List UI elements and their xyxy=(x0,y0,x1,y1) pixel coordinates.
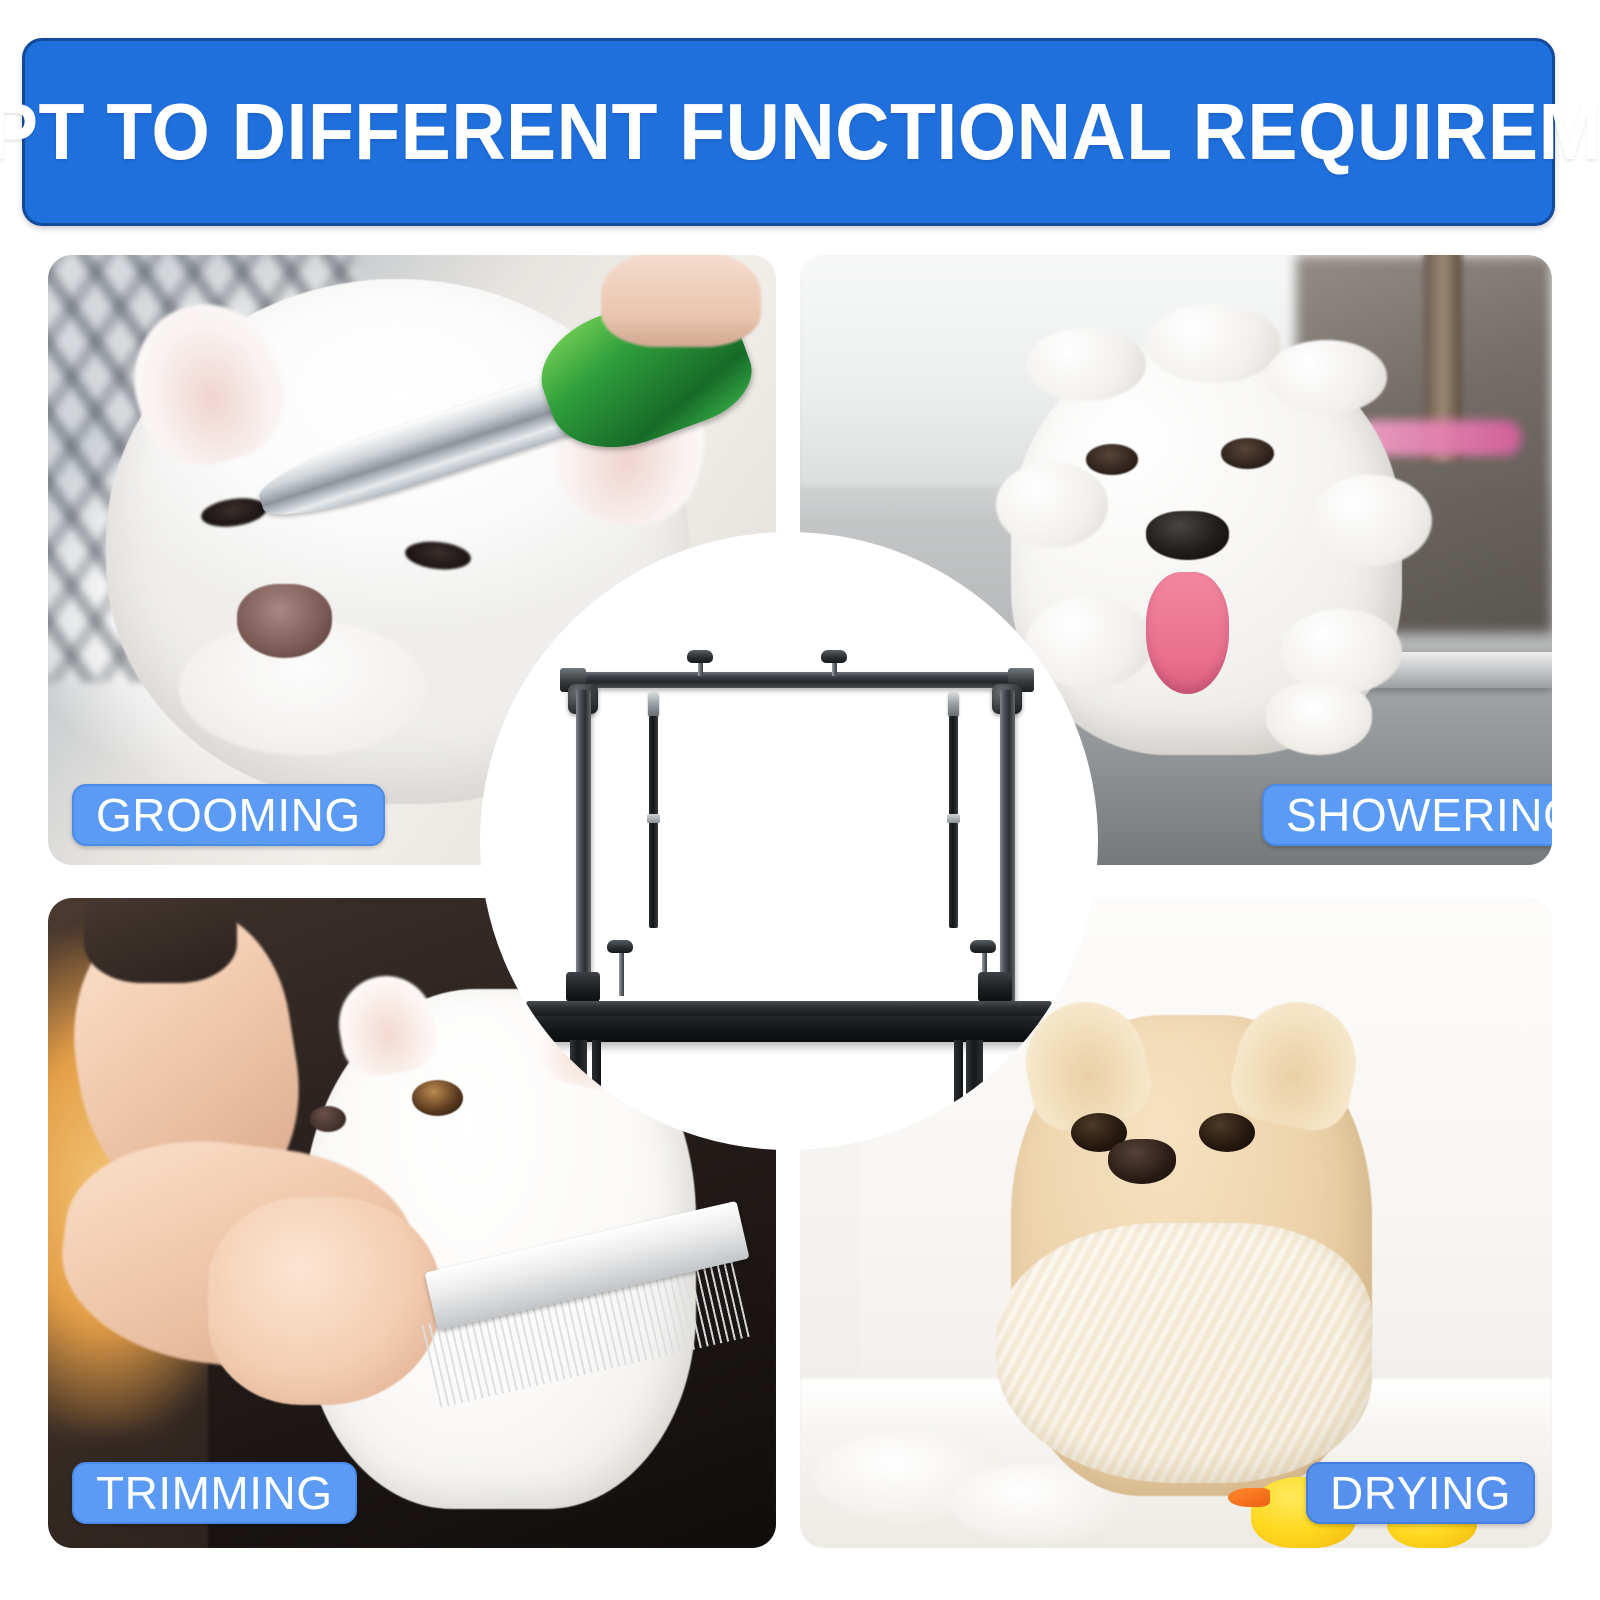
loop-adjuster-left xyxy=(647,814,660,823)
dog-paw xyxy=(1266,682,1371,755)
groomer-sleeve xyxy=(84,898,237,983)
groomer-finger xyxy=(601,255,761,347)
groomer-hand xyxy=(208,1197,441,1405)
dog-eye-right xyxy=(1199,1113,1255,1152)
vertical-post-right xyxy=(1000,690,1015,1020)
table-leg-right xyxy=(966,1040,983,1122)
dog-eye xyxy=(412,1080,463,1116)
mount-thumbscrew-left xyxy=(607,940,633,953)
table-mount-bracket-right xyxy=(978,972,1012,1002)
table-leg-brace-right xyxy=(954,1040,963,1110)
table-leg-brace-left xyxy=(592,1040,601,1110)
badge-drying: DRYING xyxy=(1306,1462,1535,1524)
crossbar-thumbscrew-right xyxy=(821,650,847,663)
mount-thumbscrew-right xyxy=(970,940,996,953)
loop-snap-clip-right xyxy=(948,692,959,718)
fur-curl xyxy=(1026,328,1146,401)
badge-trimming: TRIMMING xyxy=(72,1462,357,1524)
product-image-circle xyxy=(480,532,1098,1150)
header-banner: ADAPT TO DIFFERENT FUNCTIONAL REQUIREMEN… xyxy=(22,38,1555,226)
badge-grooming: GROOMING xyxy=(72,784,385,846)
vertical-post-left xyxy=(576,690,591,1020)
table-top-surface xyxy=(521,1001,1058,1017)
table-top-edge xyxy=(514,1016,1064,1042)
badge-showering: SHOWERING xyxy=(1262,784,1552,846)
fur-curl xyxy=(1266,340,1386,413)
loop-snap-clip-left xyxy=(648,692,659,718)
loop-adjuster-right xyxy=(947,814,960,823)
drying-towel xyxy=(996,1223,1372,1483)
dog-nose xyxy=(1108,1139,1176,1185)
dog-tongue xyxy=(1146,572,1229,694)
table-mount-bracket-left xyxy=(566,972,600,1002)
wet-dog-eye-left xyxy=(1086,444,1139,475)
crossbar-thumbscrew-left xyxy=(687,650,713,663)
wet-dog-eye-right xyxy=(1221,438,1274,469)
grooming-table-arm-product xyxy=(480,532,1098,1150)
duck-beak-icon xyxy=(1228,1488,1270,1507)
dog-nose xyxy=(237,584,332,657)
fur-curl xyxy=(1281,609,1401,694)
wet-dog-nose xyxy=(1146,511,1229,560)
mount-knob-stem-left xyxy=(619,952,624,996)
fur-curl xyxy=(1146,304,1281,383)
fur-curl xyxy=(1311,475,1431,567)
table-leg-left xyxy=(570,1040,587,1122)
page-title: ADAPT TO DIFFERENT FUNCTIONAL REQUIREMEN… xyxy=(0,86,1600,178)
infographic-page: ADAPT TO DIFFERENT FUNCTIONAL REQUIREMEN… xyxy=(0,0,1600,1600)
overhead-crossbar xyxy=(566,672,1018,688)
